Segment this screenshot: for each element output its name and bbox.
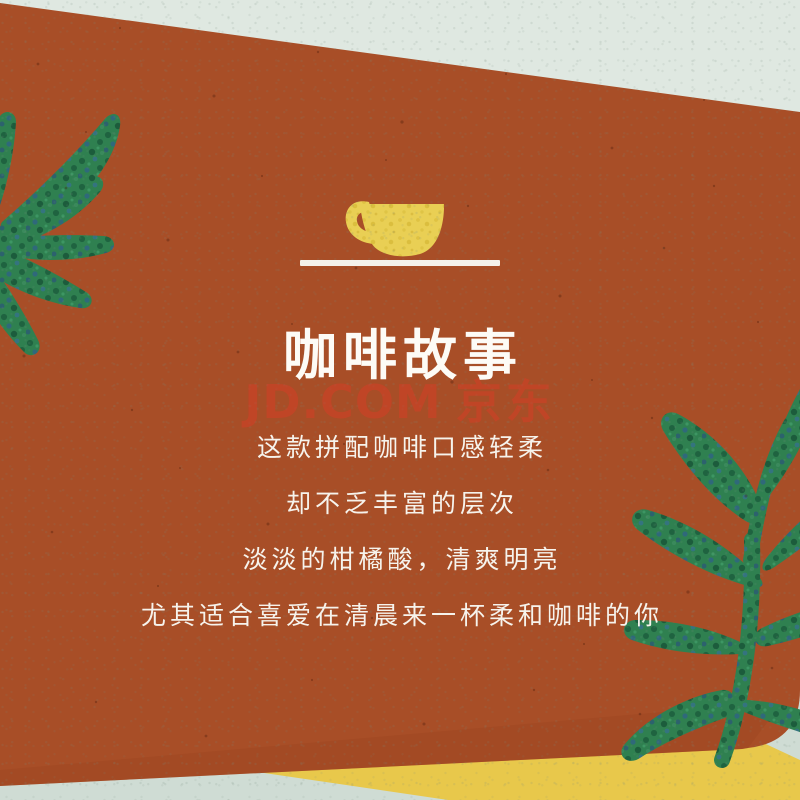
description-line: 尤其适合喜爱在清晨来一杯柔和咖啡的你 xyxy=(0,596,800,632)
title-divider-rule xyxy=(300,260,500,266)
description-line: 却不乏丰富的层次 xyxy=(0,484,800,520)
poster-content: 咖啡故事 JD.COM京东 这款拼配咖啡口感轻柔 却不乏丰富的层次 淡淡的柑橘酸… xyxy=(0,0,800,800)
page-title: 咖啡故事 xyxy=(0,324,800,388)
coffee-story-poster: 咖啡故事 JD.COM京东 这款拼配咖啡口感轻柔 却不乏丰富的层次 淡淡的柑橘酸… xyxy=(0,0,800,800)
description-line: 这款拼配咖啡口感轻柔 xyxy=(0,428,800,464)
description-text: 这款拼配咖啡口感轻柔 却不乏丰富的层次 淡淡的柑橘酸，清爽明亮 尤其适合喜爱在清… xyxy=(0,428,800,632)
description-line: 淡淡的柑橘酸，清爽明亮 xyxy=(0,540,800,576)
